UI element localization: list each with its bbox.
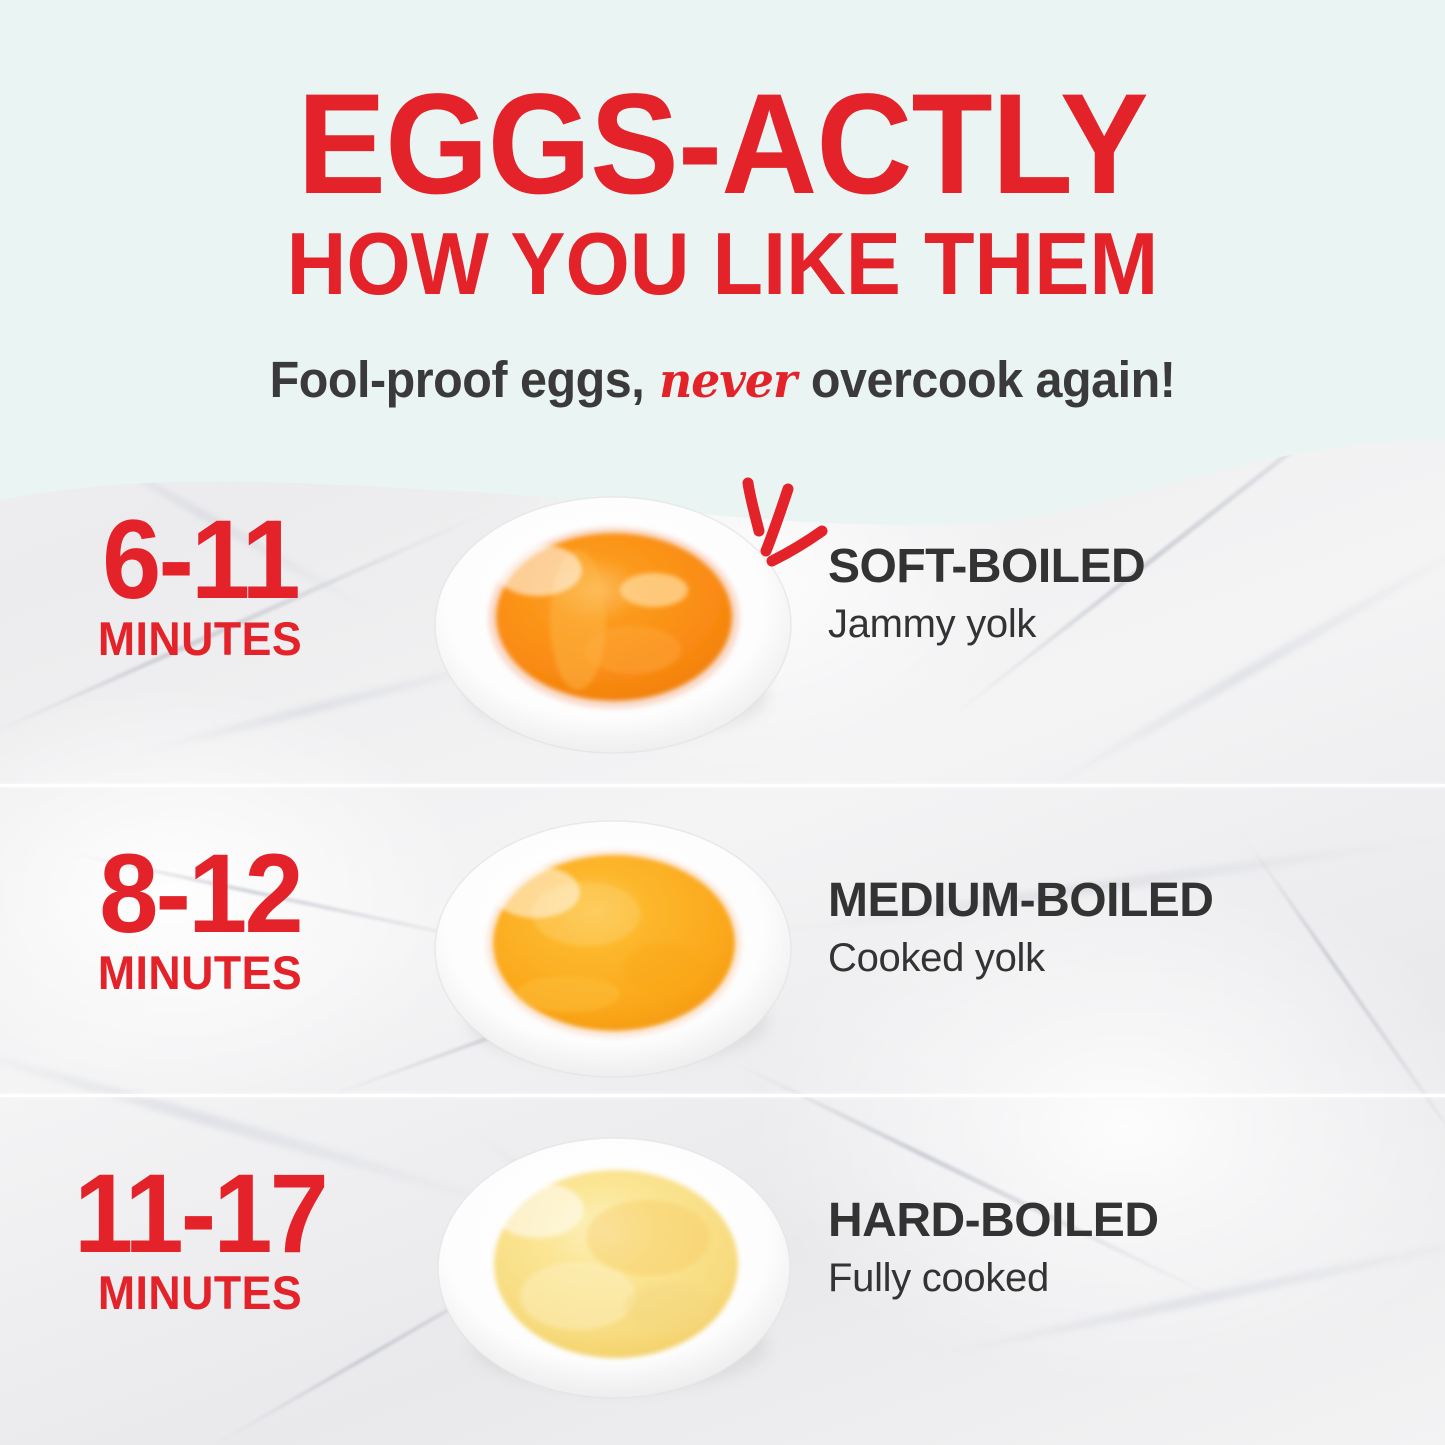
sparkle-lines-icon (730, 475, 840, 585)
time-block-hard-boiled: 11-17 MINUTES (0, 1164, 400, 1316)
page-title: EGGS-ACTLY (51, 0, 1395, 212)
label-desc: Fully cooked (828, 1254, 1158, 1302)
label-desc: Cooked yolk (828, 934, 1213, 982)
time-range: 6-11 (10, 510, 390, 611)
time-range: 11-17 (10, 1164, 390, 1265)
header-content: EGGS-ACTLY HOW YOU LIKE THEM Fool-proof … (0, 0, 1445, 409)
tagline: Fool-proof eggs, never overcook again! (36, 308, 1409, 409)
egg-icon (418, 804, 808, 1094)
label-desc: Jammy yolk (828, 600, 1145, 648)
label-title: SOFT-BOILED (828, 542, 1145, 592)
label-block-medium-boiled: MEDIUM-BOILED Cooked yolk (828, 876, 1213, 982)
time-range: 8-12 (10, 844, 390, 945)
egg-row-hard-boiled: 11-17 MINUTES (0, 1096, 1445, 1426)
tagline-emphasis: never (657, 353, 798, 409)
egg-icon (418, 1118, 808, 1418)
label-title: HARD-BOILED (828, 1196, 1158, 1246)
egg-row-medium-boiled: 8-12 MINUTES (0, 786, 1445, 1096)
time-unit: MINUTES (10, 949, 390, 996)
label-block-soft-boiled: SOFT-BOILED Jammy yolk (828, 542, 1145, 648)
tagline-after: overcook again! (811, 351, 1175, 408)
time-block-soft-boiled: 6-11 MINUTES (0, 510, 400, 662)
page-subtitle: HOW YOU LIKE THEM (43, 212, 1401, 308)
infographic-page: EGGS-ACTLY HOW YOU LIKE THEM Fool-proof … (0, 0, 1445, 1445)
row-divider (0, 784, 1445, 787)
label-block-hard-boiled: HARD-BOILED Fully cooked (828, 1196, 1158, 1302)
tagline-before: Fool-proof eggs, (270, 351, 645, 408)
row-divider (0, 1094, 1445, 1097)
time-block-medium-boiled: 8-12 MINUTES (0, 844, 400, 996)
time-unit: MINUTES (10, 1269, 390, 1316)
egg-row-soft-boiled: 6-11 MINUTES (0, 470, 1445, 786)
label-title: MEDIUM-BOILED (828, 876, 1213, 926)
time-unit: MINUTES (10, 615, 390, 662)
